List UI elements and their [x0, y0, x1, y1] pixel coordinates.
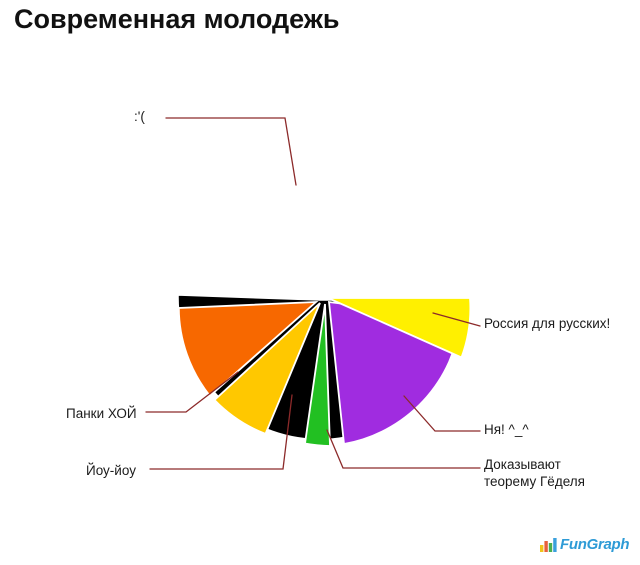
- watermark-label: FunGraph: [560, 536, 629, 553]
- pie-label-nya: Ня! ^_^: [484, 421, 529, 438]
- pie-label-cry: :'(: [134, 108, 145, 125]
- watermark: FunGraph: [540, 532, 632, 556]
- pie-label-godel-line1: Доказывают: [484, 456, 614, 473]
- pie-label-russia: Россия для русских!: [484, 315, 610, 332]
- pie-label-godel-line2: теорему Гёделя: [484, 473, 614, 490]
- bar-chart-icon: [540, 537, 557, 552]
- leader-line-cry: [166, 118, 296, 185]
- pie-label-yoyo: Йоу-йоу: [86, 462, 136, 479]
- pie-label-punks: Панки ХОЙ: [66, 405, 137, 422]
- pie-label-godel: Доказывают теорему Гёделя: [484, 456, 614, 490]
